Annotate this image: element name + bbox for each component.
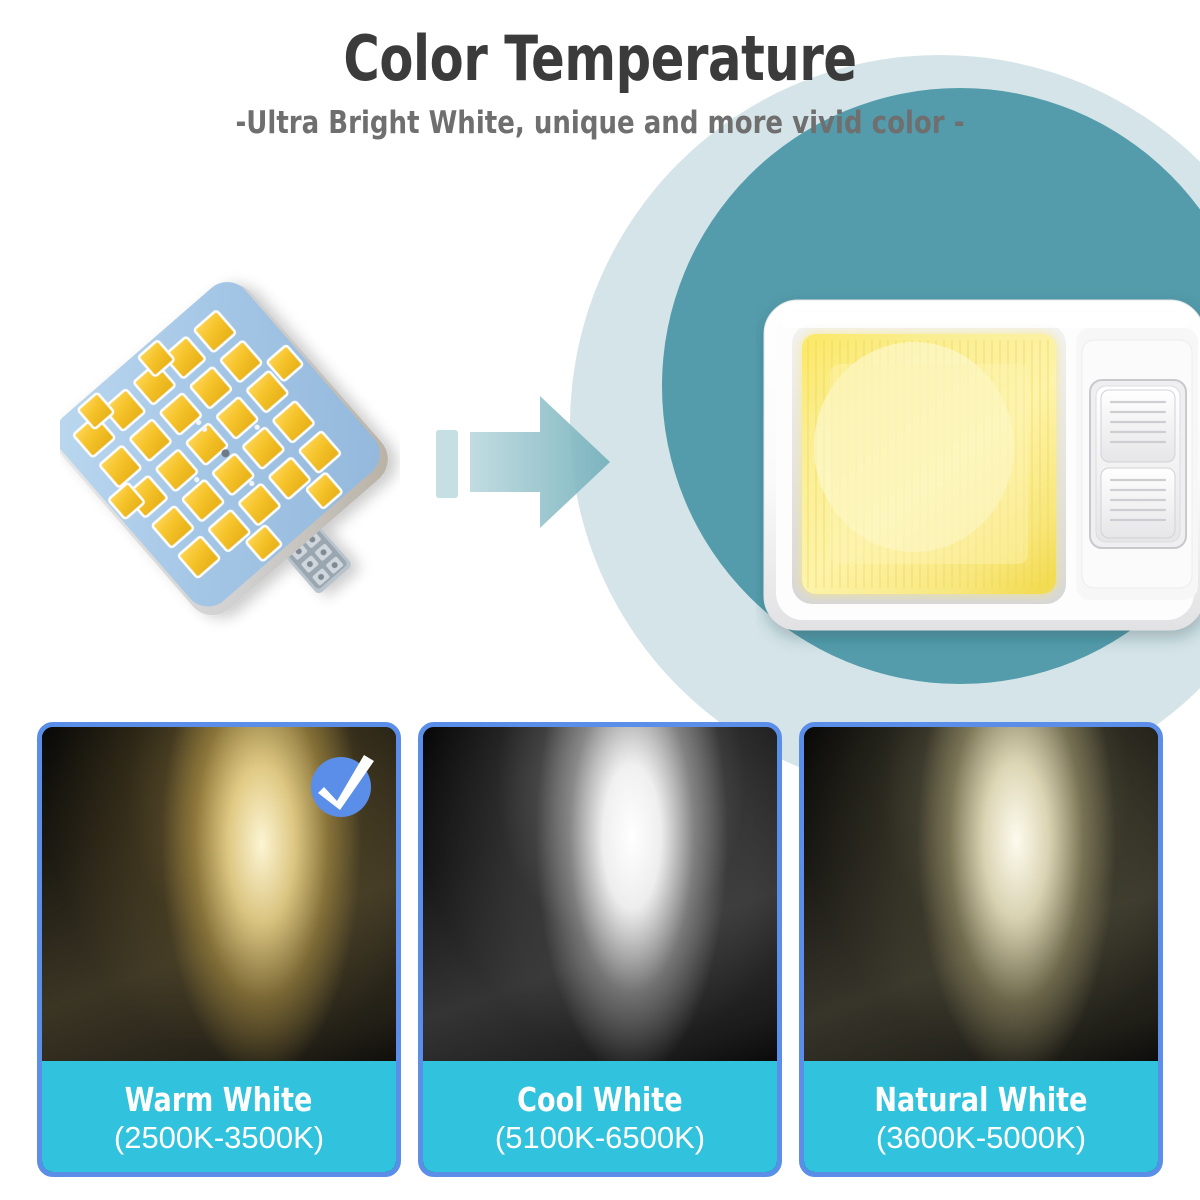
- infographic-stage: Color Temperature -Ultra Bright White, u…: [0, 0, 1200, 1200]
- dome-light-icon: [756, 282, 1200, 654]
- card-kelvin-range: (5100K-6500K): [495, 1122, 705, 1153]
- card-footer-warm: Warm White (2500K-3500K): [42, 1061, 396, 1172]
- beam-photo-cool: [423, 727, 777, 1071]
- check-circle-icon: [306, 747, 380, 821]
- card-footer-cool: Cool White (5100K-6500K): [423, 1061, 777, 1172]
- color-temperature-cards: Warm White (2500K-3500K) Cool White (510…: [0, 722, 1200, 1182]
- card-natural-white[interactable]: Natural White (3600K-5000K): [799, 722, 1163, 1177]
- card-kelvin-range: (3600K-5000K): [876, 1122, 1086, 1153]
- card-footer-natural: Natural White (3600K-5000K): [804, 1061, 1158, 1172]
- header: Color Temperature -Ultra Bright White, u…: [0, 26, 1200, 141]
- card-title: Natural White: [874, 1083, 1087, 1116]
- card-warm-white[interactable]: Warm White (2500K-3500K): [37, 722, 401, 1177]
- page-title: Color Temperature: [120, 26, 1080, 91]
- card-title: Warm White: [125, 1083, 313, 1116]
- card-kelvin-range: (2500K-3500K): [114, 1122, 324, 1153]
- beam-photo-natural: [804, 727, 1158, 1071]
- page-subtitle: -Ultra Bright White, unique and more viv…: [96, 105, 1104, 141]
- card-title: Cool White: [517, 1083, 682, 1116]
- card-cool-white[interactable]: Cool White (5100K-6500K): [418, 722, 782, 1177]
- led-board-icon: [60, 270, 400, 650]
- arrow-right-icon: [432, 392, 632, 532]
